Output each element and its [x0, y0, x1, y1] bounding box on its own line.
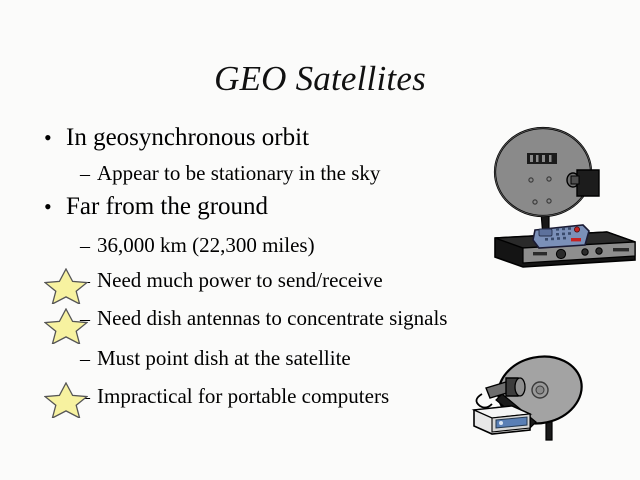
bullet-marker: • — [44, 189, 66, 225]
bullet-text: Far from the ground — [66, 189, 268, 225]
bullet-item: • In geosynchronous orbit — [0, 120, 540, 155]
bullet-item: – 36,000 km (22,300 miles) — [0, 227, 540, 262]
presentation-slide: GEO Satellites — [0, 0, 640, 480]
bullet-marker: • — [44, 120, 66, 156]
slide-title: GEO Satellites — [0, 59, 640, 99]
bullet-marker: – — [80, 228, 97, 264]
bullet-item: – Need dish antennas to concentrate sign… — [0, 300, 540, 340]
bullet-item: – Impractical for portable computers — [0, 378, 540, 412]
bullet-marker: – — [80, 341, 97, 377]
bullet-item: – Need much power to send/receive — [0, 262, 540, 300]
bullet-list: • In geosynchronous orbit – Appear to be… — [0, 120, 540, 412]
bullet-text: Need dish antennas to concentrate signal… — [97, 300, 447, 336]
bullet-item: – Appear to be stationary in the sky — [0, 155, 540, 189]
bullet-text: Must point dish at the satellite — [97, 340, 351, 376]
bullet-marker: – — [80, 301, 97, 337]
bullet-text: In geosynchronous orbit — [66, 120, 309, 156]
bullet-text: Appear to be stationary in the sky — [97, 155, 380, 191]
bullet-text: Impractical for portable computers — [97, 378, 389, 414]
bullet-text: Need much power to send/receive — [97, 262, 383, 298]
bullet-item: – Must point dish at the satellite — [0, 340, 540, 378]
bullet-marker: – — [80, 379, 97, 415]
bullet-item: • Far from the ground — [0, 189, 540, 227]
bullet-marker: – — [80, 263, 97, 299]
remote-control — [533, 225, 589, 248]
bullet-text: 36,000 km (22,300 miles) — [97, 227, 315, 263]
bullet-marker: – — [80, 156, 97, 192]
